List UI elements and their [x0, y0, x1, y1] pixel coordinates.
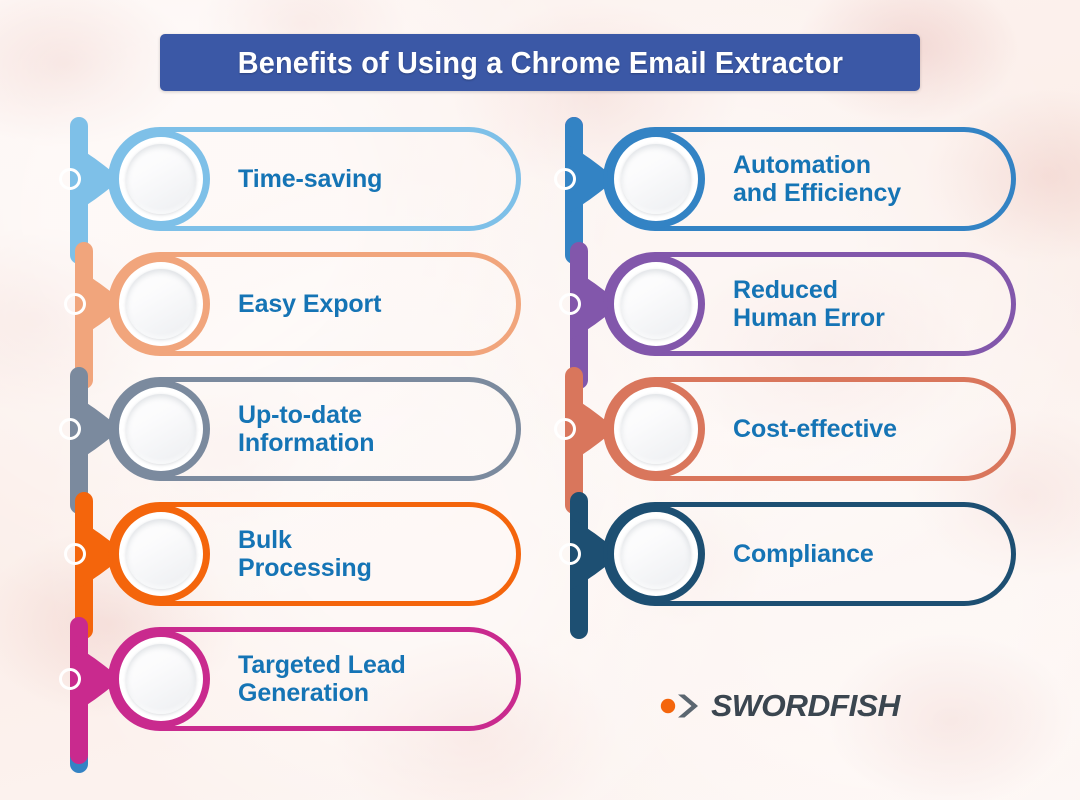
swordfish-logo-mark — [660, 693, 704, 719]
gear-icon — [621, 144, 691, 214]
refresh-icon — [126, 394, 196, 464]
page-title-banner: Benefits of Using a Chrome Email Extract… — [160, 34, 920, 91]
spine-marker — [59, 668, 81, 690]
benefit-label: Compliance — [733, 502, 1002, 606]
swordfish-wordmark: SWORDFISH — [711, 688, 900, 724]
check-icon — [621, 519, 691, 589]
chevron-arrow-icon — [660, 693, 704, 719]
target-icon — [126, 644, 196, 714]
spine-marker — [554, 418, 576, 440]
benefit-label: Time-saving — [238, 127, 507, 231]
spine-marker — [59, 418, 81, 440]
layers-icon — [126, 519, 196, 589]
benefit-label: Automation and Efficiency — [733, 127, 1002, 231]
shield-icon — [621, 269, 691, 339]
spine-marker — [559, 543, 581, 565]
clock-icon — [126, 144, 196, 214]
spine-marker — [554, 168, 576, 190]
benefit-label: Bulk Processing — [238, 502, 507, 606]
spine-marker — [559, 293, 581, 315]
benefit-label: Up-to-date Information — [238, 377, 507, 481]
benefit-label: Cost-effective — [733, 377, 1002, 481]
export-icon — [126, 269, 196, 339]
coins-icon — [621, 394, 691, 464]
page-title: Benefits of Using a Chrome Email Extract… — [237, 45, 842, 81]
benefit-label: Reduced Human Error — [733, 252, 1002, 356]
spine-marker — [64, 293, 86, 315]
spine-marker — [64, 543, 86, 565]
swordfish-logo: SWORDFISH — [660, 688, 898, 724]
benefit-label: Targeted Lead Generation — [238, 627, 507, 731]
benefit-label: Easy Export — [238, 252, 507, 356]
spine-marker — [59, 168, 81, 190]
